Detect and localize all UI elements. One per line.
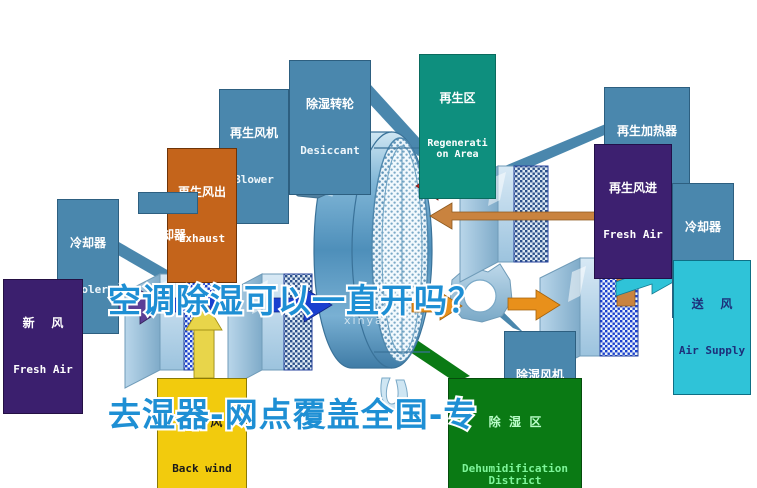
label-regeneration-area: 再生区 Regenerati on Area <box>419 54 496 199</box>
label-regeneration-area-cn: 再生区 <box>424 92 491 105</box>
label-regeneration-fresh-air: 再生风进 Fresh Air <box>594 144 672 279</box>
label-regeneration-fresh-air-en: Fresh Air <box>599 229 667 241</box>
label-cooler-left-cn: 冷却器 <box>62 237 114 250</box>
label-desiccant-wheel: 除湿转轮 Desiccant <box>289 60 371 195</box>
label-fresh-air-cn: 新 风 <box>8 317 78 330</box>
label-air-supply: 送 风 Air Supply <box>673 260 751 395</box>
label-air-supply-cn: 送 风 <box>678 298 746 311</box>
diagram-canvas: xinya 除湿转轮 Desiccant 再生风机 Blower 再生区 Reg… <box>0 0 757 488</box>
label-regeneration-fresh-air-cn: 再生风进 <box>599 182 667 195</box>
label-regeneration-heater-cn: 再生加热器 <box>609 125 685 138</box>
label-desiccant-wheel-cn: 除湿转轮 <box>294 98 366 111</box>
headline-line-1: 空调除湿可以一直开吗？ <box>108 282 482 320</box>
label-fresh-air: 新 风 Fresh Air <box>3 279 83 414</box>
label-desiccant-wheel-en: Desiccant <box>294 145 366 157</box>
label-fresh-air-en: Fresh Air <box>8 364 78 376</box>
label-regeneration-area-en: Regenerati on Area <box>424 139 491 161</box>
label-cooler-right-cn: 冷却器 <box>677 221 729 234</box>
label-air-supply-en: Air Supply <box>678 345 746 357</box>
label-regeneration-blower-cn: 再生风机 <box>224 127 284 140</box>
headline-line-2: 去湿器-网点覆盖全国-专 <box>108 396 482 434</box>
headline-overlay: 空调除湿可以一直开吗？ 去湿器-网点覆盖全国-专 <box>108 206 482 488</box>
